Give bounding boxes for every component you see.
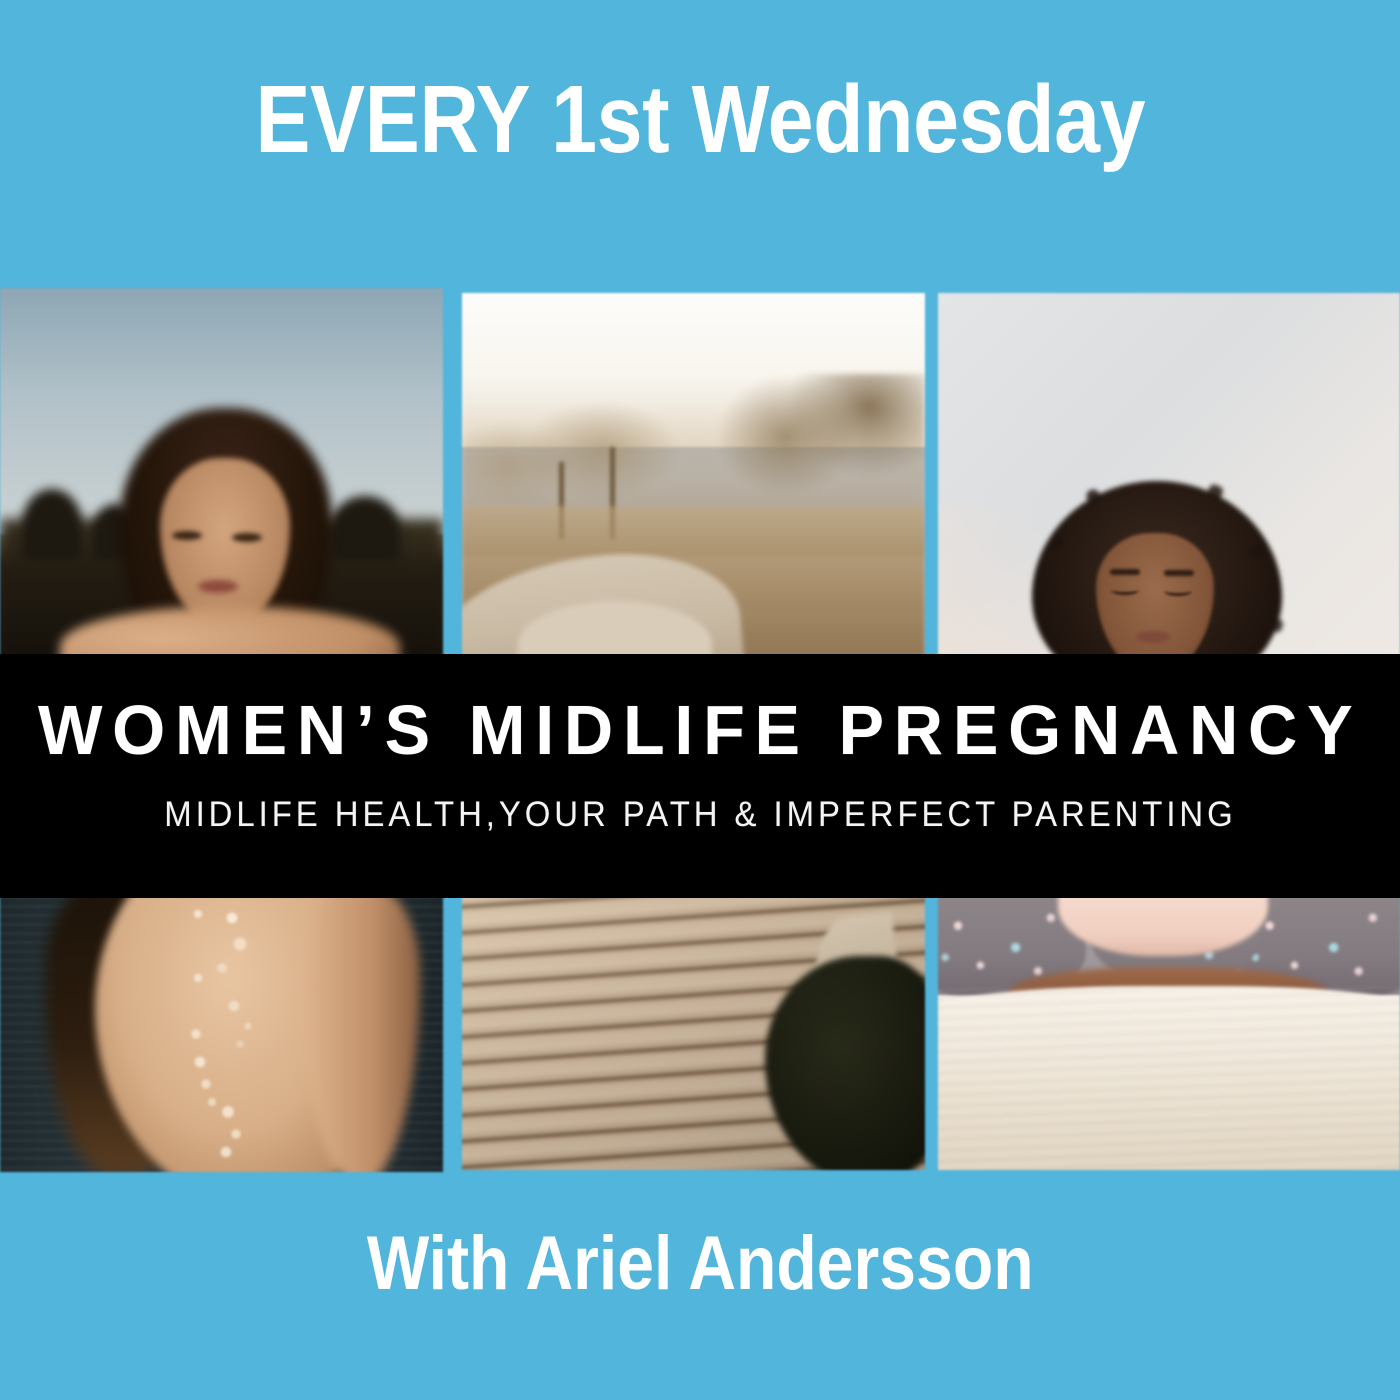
woman-lips [198, 580, 238, 593]
podcast-cover-art: EVERY 1st Wednesday [0, 0, 1400, 1400]
photo-tile-top-center [462, 293, 925, 660]
tree-silhouette [22, 489, 82, 561]
show-title: WOMEN’S MIDLIFE PREGNANCY [38, 695, 1362, 765]
photo-tile-bottom-left [0, 896, 443, 1172]
photo-tile-top-right [938, 293, 1400, 660]
bed-texture [938, 986, 1400, 1170]
photo-tile-top-left [0, 288, 443, 660]
eyebrow-left [1110, 569, 1140, 575]
woman-lips [1136, 631, 1170, 643]
show-tagline: MIDLIFE HEALTH,YOUR PATH & IMPERFECT PAR… [164, 797, 1236, 832]
woman-eye-left [172, 531, 202, 540]
woman-eye-right [232, 533, 262, 542]
tree-silhouette [330, 496, 400, 562]
photo-tile-bottom-center [462, 896, 925, 1170]
title-band: WOMEN’S MIDLIFE PREGNANCY MIDLIFE HEALTH… [0, 654, 1400, 898]
footer-band: With Ariel Andersson [0, 1172, 1400, 1400]
water-droplets [0, 896, 443, 1172]
closed-eye-left [1111, 585, 1139, 595]
photo-tile-bottom-right [938, 896, 1400, 1170]
host-credit: With Ariel Andersson [367, 1226, 1034, 1302]
closed-eye-right [1164, 586, 1192, 596]
eyebrow-right [1164, 570, 1194, 576]
light-shading [462, 896, 925, 1170]
